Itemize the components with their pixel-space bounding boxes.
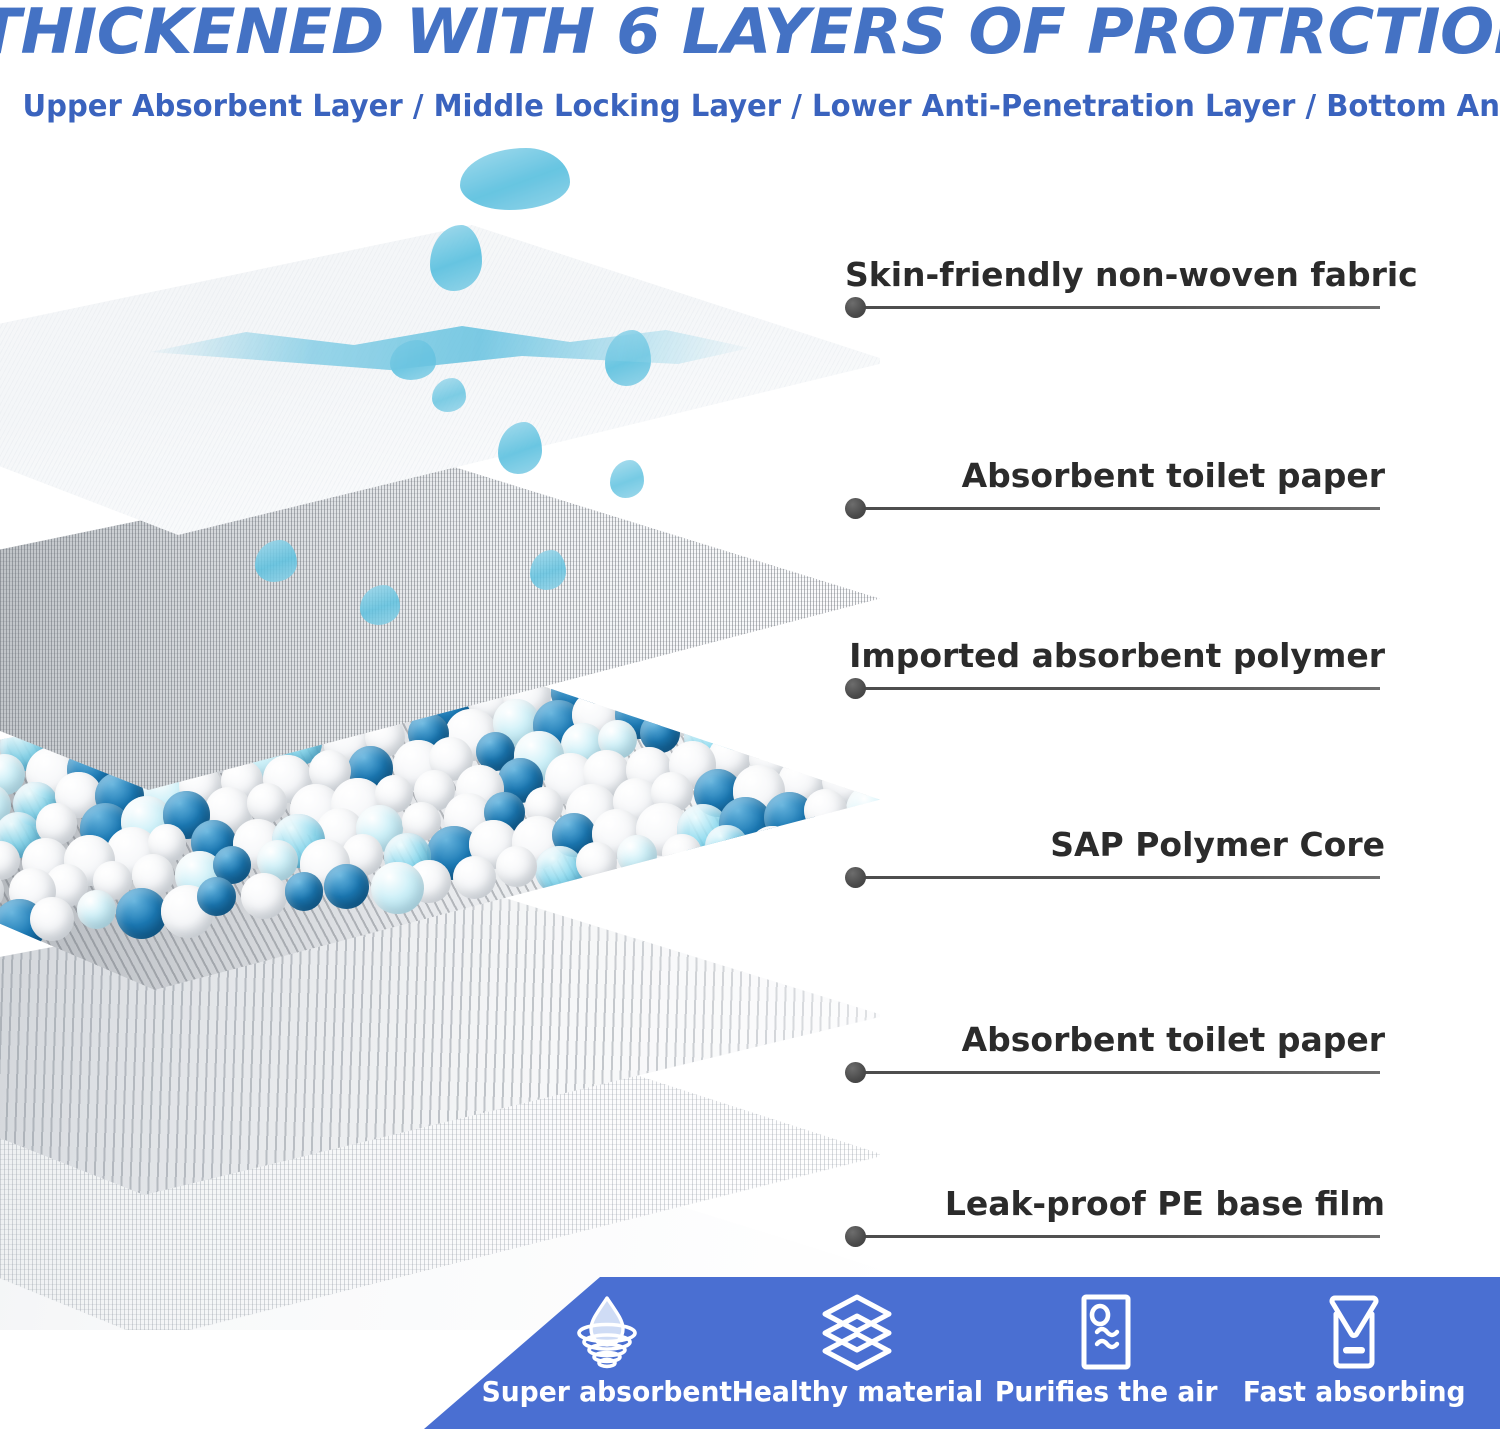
sap-bead: [834, 724, 878, 768]
callout-label: Absorbent toilet paper: [845, 456, 1385, 496]
feature-label: Healthy material: [731, 1375, 982, 1409]
sap-bead: [247, 783, 287, 823]
callout-label: Absorbent toilet paper: [845, 1020, 1385, 1060]
sap-bead: [797, 728, 843, 774]
callout-marker-dot: [845, 867, 866, 888]
callout-leader-line: [863, 1071, 1380, 1074]
feature-item-3: Purifies the air: [982, 1291, 1230, 1409]
callout-marker-dot: [845, 678, 866, 699]
stacked-diamond-layers-icon: [818, 1291, 896, 1373]
water-droplet: [610, 460, 644, 498]
callout-leader-line: [863, 687, 1380, 690]
callout-leader-line: [863, 306, 1380, 309]
sap-bead: [701, 682, 746, 727]
sap-bead: [876, 721, 880, 774]
callout-marker-dot: [845, 297, 866, 318]
sap-bead: [662, 834, 702, 874]
sap-bead: [705, 825, 747, 867]
feature-label: Purifies the air: [995, 1375, 1218, 1409]
sap-bead: [77, 890, 116, 929]
downward-absorb-tray-icon: [1318, 1291, 1390, 1373]
sap-bead: [749, 826, 796, 873]
sap-bead: [576, 842, 618, 884]
sap-bead: [630, 655, 676, 701]
feature-list: Super absorbentHealthy materialPurifies …: [470, 1277, 1490, 1429]
sap-bead: [804, 789, 847, 832]
sap-bead: [30, 897, 74, 941]
sap-bead: [810, 699, 862, 751]
sap-bead: [197, 877, 236, 916]
air-purifier-panel-icon: [1073, 1291, 1139, 1373]
callout-label: SAP Polymer Core: [845, 825, 1385, 865]
sap-bead: [241, 873, 287, 919]
callout-leader-line: [863, 876, 1380, 879]
sap-bead: [324, 864, 369, 909]
page-subtitle: Upper Absorbent Layer / Middle Locking L…: [23, 88, 1478, 126]
sap-bead: [766, 706, 805, 745]
feature-item-2: Healthy material: [732, 1291, 982, 1409]
callout-marker-dot: [845, 1062, 866, 1083]
sap-bead: [453, 856, 496, 899]
water-drop-ripples-icon: [570, 1291, 644, 1373]
callout-leader-line: [863, 507, 1380, 510]
sap-bead: [852, 694, 880, 739]
sap-bead: [864, 751, 880, 794]
sap-bead: [741, 679, 793, 731]
water-droplet: [460, 148, 570, 210]
sap-bead: [285, 872, 324, 911]
callout-marker-dot: [845, 1226, 866, 1247]
sap-bead: [786, 671, 829, 714]
callout-label: Imported absorbent polymer: [845, 636, 1385, 676]
sap-bead: [116, 888, 167, 939]
feature-label: Super absorbent: [482, 1375, 733, 1409]
callout-label: Leak-proof PE base film: [845, 1184, 1385, 1224]
infographic-page: THICKENED WITH 6 LAYERS OF PROTRCTION Up…: [0, 0, 1500, 1429]
sap-bead: [371, 862, 424, 915]
callout-marker-dot: [845, 498, 866, 519]
callout-leader-line: [863, 1235, 1380, 1238]
sap-bead: [789, 823, 839, 873]
layer-diagram-illustration: [0, 130, 880, 1330]
sap-bead: [535, 846, 583, 894]
header: THICKENED WITH 6 LAYERS OF PROTRCTION Up…: [0, 0, 1500, 140]
sap-bead: [672, 656, 724, 708]
page-title: THICKENED WITH 6 LAYERS OF PROTRCTION: [0, 0, 1500, 68]
feature-item-4: Fast absorbing: [1230, 1291, 1478, 1409]
sap-bead: [617, 835, 657, 875]
callout-label: Skin-friendly non-woven fabric: [845, 255, 1385, 295]
feature-label: Fast absorbing: [1243, 1375, 1466, 1409]
